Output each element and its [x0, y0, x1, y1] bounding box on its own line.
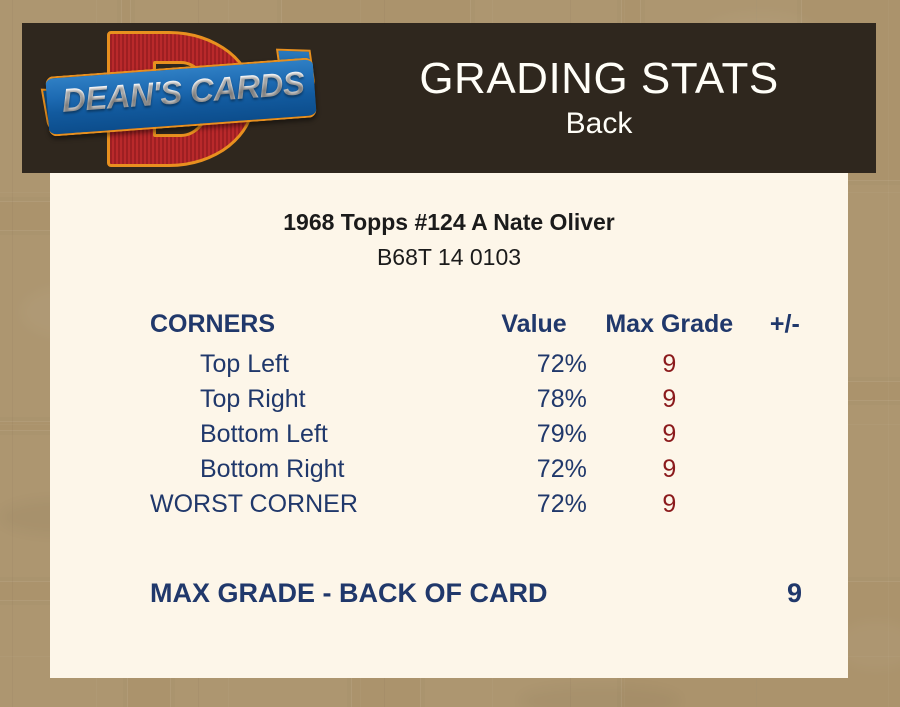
- summary-label: MAX GRADE - BACK OF CARD: [150, 578, 548, 609]
- deans-cards-logo[interactable]: DEAN'S CARDS: [47, 25, 317, 171]
- table-row: Top Left 72% 9: [150, 347, 830, 382]
- page-subtitle: Back: [566, 108, 633, 140]
- column-header-corners: CORNERS: [150, 307, 469, 347]
- max-grade-summary: MAX GRADE - BACK OF CARD 9: [150, 578, 830, 609]
- row-value: 72%: [469, 347, 599, 382]
- row-max-grade: 9: [599, 487, 740, 522]
- row-label: Bottom Left: [150, 417, 469, 452]
- header-title-group: GRADING STATS Back: [322, 23, 876, 173]
- row-plus-minus: [740, 487, 830, 522]
- row-label: Bottom Right: [150, 452, 469, 487]
- row-plus-minus: [740, 382, 830, 417]
- stats-panel: 1968 Topps #124 A Nate Oliver B68T 14 01…: [50, 173, 848, 678]
- row-plus-minus: [740, 417, 830, 452]
- table-row: Bottom Left 79% 9: [150, 417, 830, 452]
- card-id: B68T 14 0103: [50, 244, 848, 271]
- table-body: Top Left 72% 9 Top Right 78% 9 Bottom Le…: [150, 347, 830, 522]
- table-row: Bottom Right 72% 9: [150, 452, 830, 487]
- row-value: 72%: [469, 487, 599, 522]
- page-title: GRADING STATS: [419, 56, 778, 103]
- table-header: CORNERS Value Max Grade +/-: [150, 307, 830, 347]
- row-label: Top Right: [150, 382, 469, 417]
- row-max-grade: 9: [599, 382, 740, 417]
- table-row-worst-corner: WORST CORNER 72% 9: [150, 487, 830, 522]
- table-row: Top Right 78% 9: [150, 382, 830, 417]
- row-plus-minus: [740, 347, 830, 382]
- header-band: DEAN'S CARDS GRADING STATS Back: [22, 23, 876, 173]
- row-label: WORST CORNER: [150, 487, 469, 522]
- row-plus-minus: [740, 452, 830, 487]
- column-header-value: Value: [469, 307, 599, 347]
- corners-stats-table: CORNERS Value Max Grade +/- Top Left 72%…: [150, 307, 830, 522]
- card-title: 1968 Topps #124 A Nate Oliver: [50, 209, 848, 236]
- table-header-row: CORNERS Value Max Grade +/-: [150, 307, 830, 347]
- row-label: Top Left: [150, 347, 469, 382]
- row-value: 72%: [469, 452, 599, 487]
- row-value: 79%: [469, 417, 599, 452]
- row-max-grade: 9: [599, 417, 740, 452]
- column-header-max-grade: Max Grade: [599, 307, 740, 347]
- screenshot-root: DEAN'S CARDS GRADING STATS Back 1968 Top…: [0, 0, 900, 707]
- row-max-grade: 9: [599, 347, 740, 382]
- column-header-plus-minus: +/-: [740, 307, 830, 347]
- row-max-grade: 9: [599, 452, 740, 487]
- summary-value: 9: [787, 578, 802, 609]
- row-value: 78%: [469, 382, 599, 417]
